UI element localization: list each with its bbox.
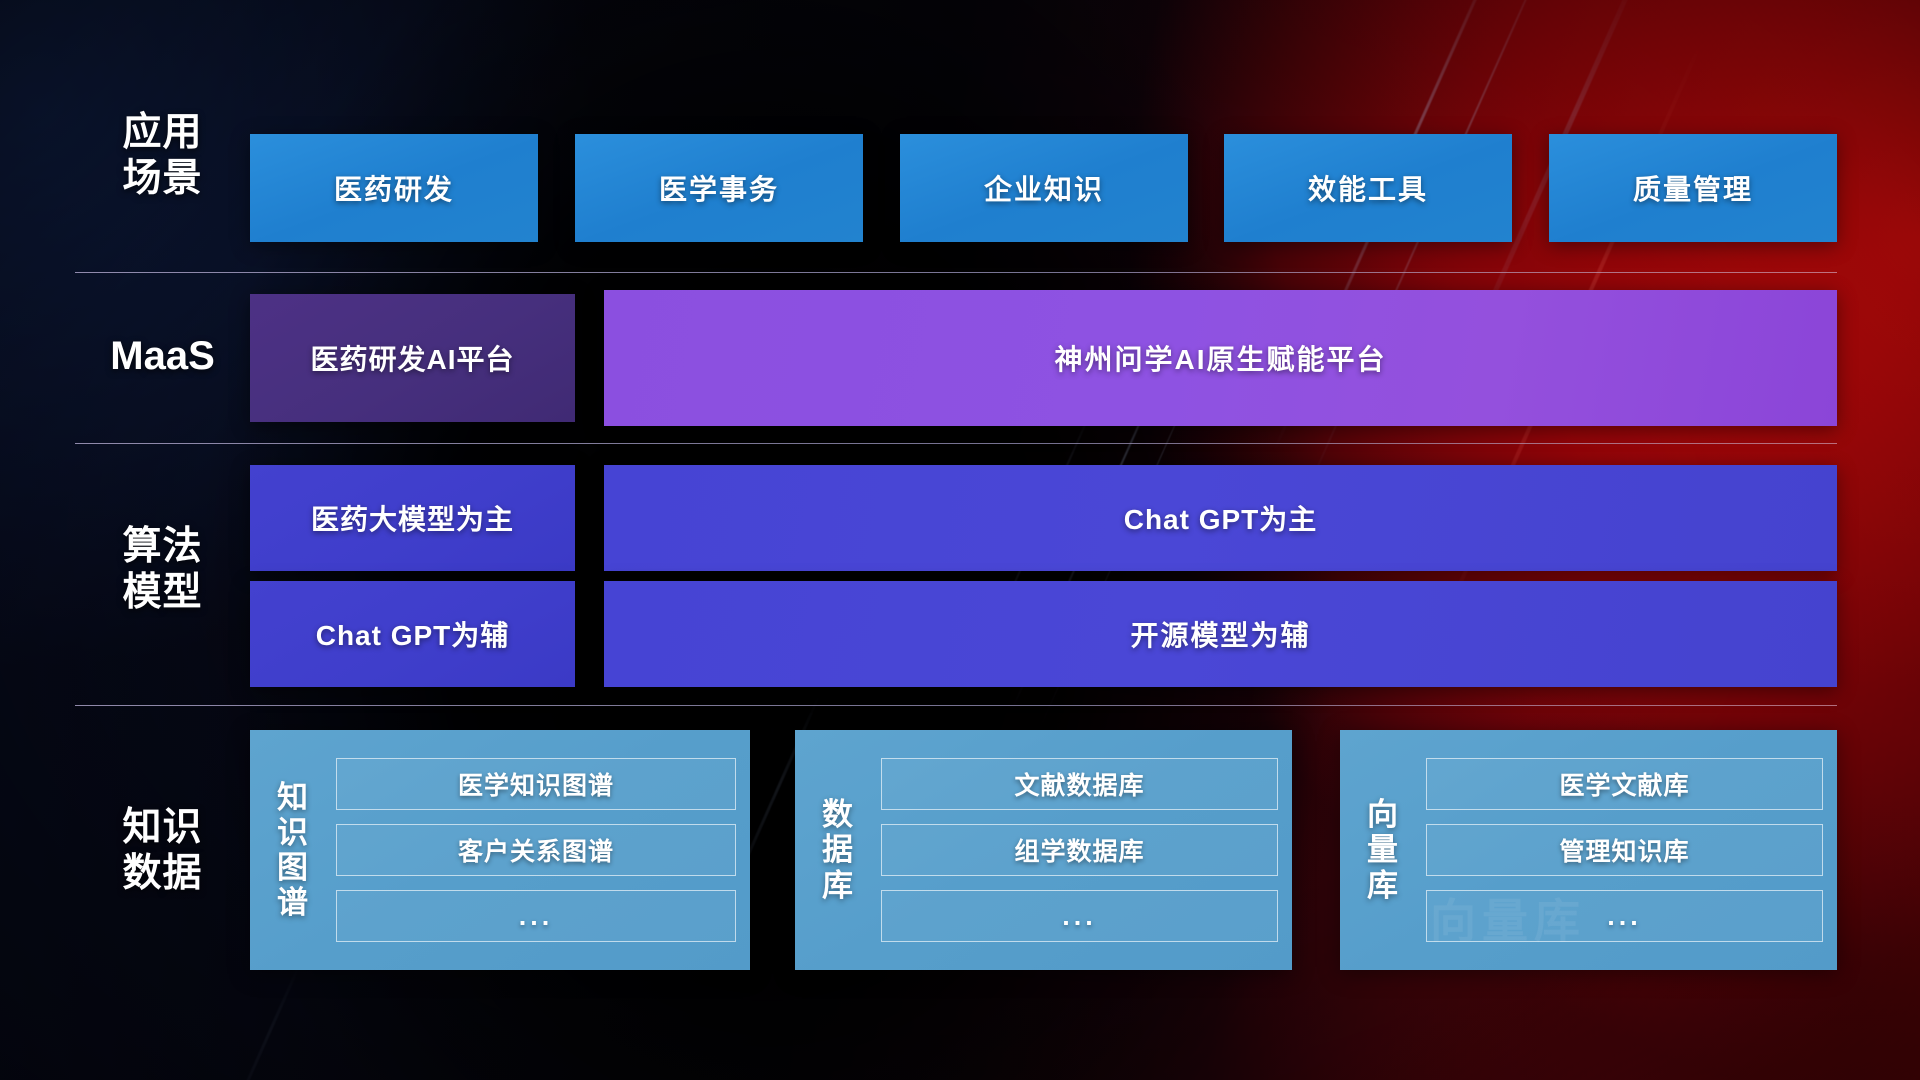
- row-divider: [75, 272, 1837, 273]
- knowledge-card-item-more[interactable]: ...: [336, 890, 736, 942]
- row-label-line: 模型: [75, 570, 250, 616]
- knowledge-card-knowledge-graph[interactable]: 知 识 图 谱 医学知识图谱 客户关系图谱 ...: [250, 730, 750, 970]
- algorithm-box-chatgpt-secondary[interactable]: Chat GPT为辅: [250, 581, 575, 687]
- knowledge-card-item-list: 医学文献库 管理知识库 ...: [1426, 758, 1823, 942]
- algorithm-box-medicine-llm-primary[interactable]: 医药大模型为主: [250, 465, 575, 571]
- row-label-line: 知识: [75, 805, 250, 851]
- title-char: 数: [795, 797, 881, 832]
- knowledge-card-item-more[interactable]: ...: [881, 890, 1278, 942]
- app-scenario-box-medical-affairs[interactable]: 医学事务: [575, 134, 863, 242]
- algorithm-box-open-source-secondary[interactable]: 开源模型为辅: [604, 581, 1837, 687]
- row-label-line: 应用: [75, 110, 250, 156]
- knowledge-card-title: 向 量 库: [1340, 797, 1426, 902]
- knowledge-card-item-list: 医学知识图谱 客户关系图谱 ...: [336, 758, 736, 942]
- knowledge-card-item[interactable]: 医学文献库: [1426, 758, 1823, 810]
- row-label-knowledge-data: 知识 数据: [75, 805, 250, 897]
- row-label-line: 场景: [75, 156, 250, 202]
- knowledge-card-item-list: 文献数据库 组学数据库 ...: [881, 758, 1278, 942]
- title-char: 识: [250, 815, 336, 850]
- knowledge-card-item[interactable]: 组学数据库: [881, 824, 1278, 876]
- title-char: 库: [1340, 868, 1426, 903]
- row-divider: [75, 705, 1837, 706]
- title-char: 库: [795, 868, 881, 903]
- row-label-line: MaaS: [75, 333, 250, 380]
- knowledge-card-database[interactable]: 数 据 库 文献数据库 组学数据库 ...: [795, 730, 1292, 970]
- architecture-diagram: 应用 场景 MaaS 算法 模型 知识 数据 医药研发 医学事务 企业知识 效能…: [0, 0, 1920, 1080]
- app-scenario-box-enterprise-knowledge[interactable]: 企业知识: [900, 134, 1188, 242]
- algorithm-box-chatgpt-primary[interactable]: Chat GPT为主: [604, 465, 1837, 571]
- knowledge-card-title: 知 识 图 谱: [250, 780, 336, 920]
- knowledge-card-title: 数 据 库: [795, 797, 881, 902]
- knowledge-card-vector-store[interactable]: 向 量 库 医学文献库 管理知识库 ...: [1340, 730, 1837, 970]
- row-label-application-scenarios: 应用 场景: [75, 110, 250, 202]
- row-label-line: 数据: [75, 851, 250, 897]
- title-char: 量: [1340, 832, 1426, 867]
- row-divider: [75, 443, 1837, 444]
- knowledge-card-item[interactable]: 客户关系图谱: [336, 824, 736, 876]
- title-char: 谱: [250, 885, 336, 920]
- maas-box-shenzhou-wenxue-platform[interactable]: 神州问学AI原生赋能平台: [604, 290, 1837, 426]
- row-label-line: 算法: [75, 524, 250, 570]
- row-label-maas: MaaS: [75, 333, 250, 380]
- knowledge-card-item-more[interactable]: ...: [1426, 890, 1823, 942]
- app-scenario-box-medicine-rd[interactable]: 医药研发: [250, 134, 538, 242]
- maas-box-medicine-rd-ai-platform[interactable]: 医药研发AI平台: [250, 294, 575, 422]
- title-char: 知: [250, 780, 336, 815]
- knowledge-card-item[interactable]: 管理知识库: [1426, 824, 1823, 876]
- title-char: 据: [795, 832, 881, 867]
- row-label-algorithm-model: 算法 模型: [75, 524, 250, 616]
- title-char: 图: [250, 850, 336, 885]
- knowledge-card-item[interactable]: 文献数据库: [881, 758, 1278, 810]
- knowledge-card-item[interactable]: 医学知识图谱: [336, 758, 736, 810]
- title-char: 向: [1340, 797, 1426, 832]
- app-scenario-box-efficiency-tools[interactable]: 效能工具: [1224, 134, 1512, 242]
- app-scenario-box-quality-management[interactable]: 质量管理: [1549, 134, 1837, 242]
